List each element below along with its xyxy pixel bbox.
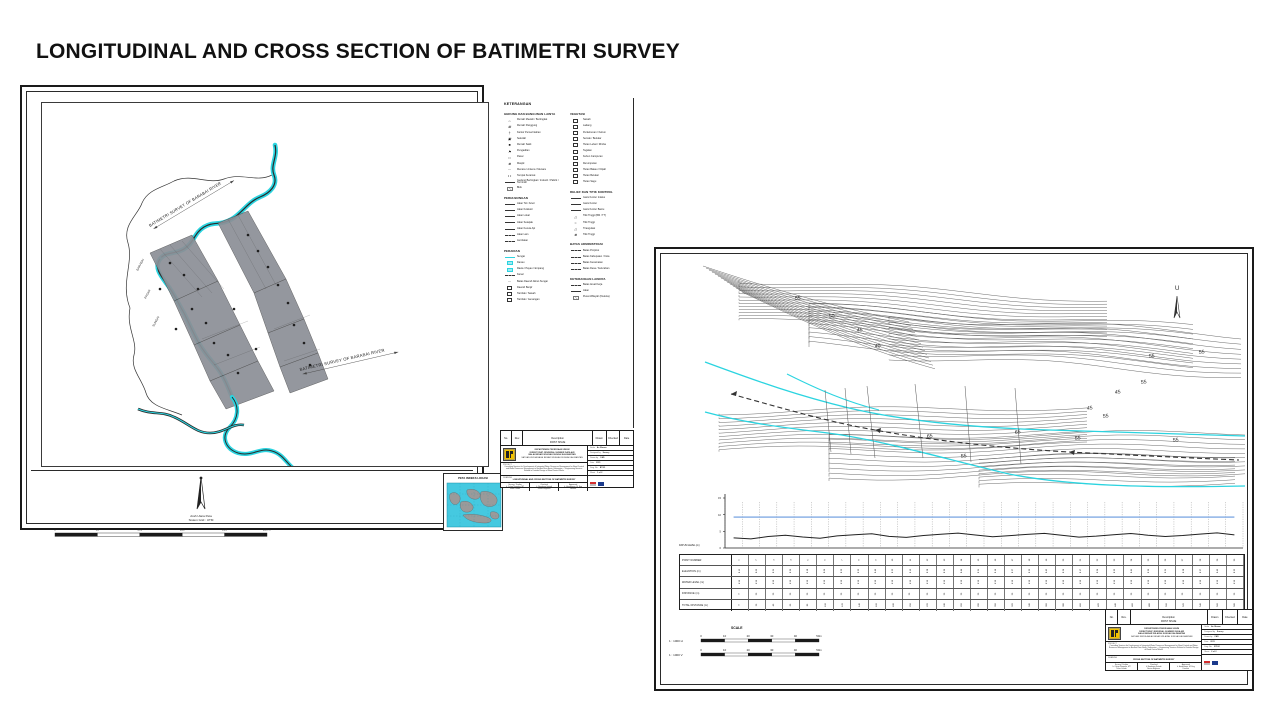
legend-item-label: Semak / Belukar	[583, 138, 601, 141]
legend-dashed-line-icon	[570, 261, 581, 266]
legend-symbol-icon: △	[570, 214, 581, 219]
table-cell: 8.18	[800, 566, 817, 576]
legend-item-label: Perkebunan / Kebun	[583, 132, 606, 135]
legend-symbol-icon: ■	[504, 143, 515, 148]
table-cell: 160	[869, 600, 886, 611]
table-cell: 20	[851, 589, 868, 599]
inset-locator-map[interactable]: PETA INDEKS LOKASI	[443, 473, 503, 531]
indonesia-inset-svg	[445, 482, 503, 530]
table-cell: 24	[1124, 555, 1141, 565]
contour-line	[703, 266, 909, 322]
field-value: As Shown	[597, 447, 607, 449]
table-cell: 9.50	[851, 577, 868, 587]
legend-item-label: Jembatan	[517, 240, 528, 243]
legend-item-label: Sawah	[583, 119, 591, 122]
table-cell: 20	[886, 589, 903, 599]
legend-item-label: Daerah Banjir	[517, 287, 532, 290]
table-cell: 8.35	[1022, 566, 1039, 576]
legend-column-left: GEDUNG DAN BANGUNAN LAINYA⌂Rumah Mewah /…	[504, 112, 566, 304]
table-cell: 20	[783, 589, 800, 599]
signature-name: Ir. Cahyo Nugroho, MT Team Leader	[1108, 666, 1136, 670]
table-cell: 20	[988, 589, 1005, 599]
legend-box-icon	[570, 143, 581, 148]
contour-label: 45	[1086, 405, 1093, 412]
table-row-label: DISTANCE (m)	[680, 589, 732, 599]
table-row: WATER LEVEL (m)9.509.509.509.509.509.509…	[680, 577, 1244, 588]
slide-canvas: LONGITUDINAL AND CROSS SECTION OF BATIME…	[0, 0, 1280, 720]
signature-name: Ir. Hendrawan, M. Eng Direktur	[1172, 666, 1200, 670]
scale-tick-label: 150	[180, 528, 185, 532]
legend-item-label: Titik Tinggi	[583, 222, 595, 225]
table-cell: 20	[749, 600, 766, 611]
scale-bars-svg: 1 : 1000 H01020304050m1 : 1000 V01020304…	[669, 632, 829, 668]
left-sheet-inner-border: BATIMETRI SURVEY OF BARABAI RIVER BATIME…	[26, 91, 478, 524]
table-cell: 2	[749, 555, 766, 565]
table-cell: 8.09	[817, 566, 834, 576]
table-cell: 20	[1005, 589, 1022, 599]
legend-symbol-icon: ▣	[504, 137, 515, 142]
table-cell: 20	[834, 589, 851, 599]
legend-item-label: Kebun Campuran	[583, 156, 603, 159]
legend-item-label: Garis Kontur Bantu	[583, 209, 604, 212]
table-cell: 8.45	[1210, 566, 1227, 576]
table-row-cells: 8.128.058.218.308.188.098.258.338.408.22…	[732, 566, 1244, 576]
signature-name: Ir. Cahyo Nugroho, MT Team Leader	[503, 486, 528, 490]
north-arrow-caption: Arah Utara Peta Sistem Grid : UTM	[151, 515, 251, 523]
indonesia-flag-icon	[1204, 661, 1210, 665]
legend-box-icon	[570, 124, 581, 129]
table-cell: 20	[971, 589, 988, 599]
legend-item-label: Batas Kecamatan	[583, 262, 603, 265]
field-label: Scale	[1204, 626, 1209, 628]
table-cell: 6	[817, 555, 834, 565]
contour-line	[829, 471, 1245, 481]
project-name: Consulting Services for Development of I…	[503, 466, 585, 472]
table-cell: 9.50	[1176, 577, 1193, 587]
field-label: Designed by	[590, 452, 601, 454]
legend-dashed-line-icon	[504, 273, 515, 278]
legend-item-label: Hutan Belukar	[583, 175, 599, 178]
right-drawing-sheet[interactable]: 555045406555554555455555556555 U 151050	[654, 247, 1254, 691]
table-cell: 9.50	[1039, 577, 1056, 587]
table-cell: 8.36	[937, 566, 954, 576]
revision-value-cell	[1223, 620, 1238, 624]
legend-dash-dot-icon	[570, 283, 581, 288]
table-cell: 8.42	[1039, 566, 1056, 576]
table-cell: 20	[1124, 589, 1141, 599]
table-cell: 9.50	[1005, 577, 1022, 587]
table-cell: 300	[988, 600, 1005, 611]
field-value: Survey	[603, 452, 610, 454]
legend-item-label: Gedung Bertingkat / Industri / Pabrik / …	[517, 180, 566, 185]
north-arrow-caption-line2: Sistem Grid : UTM	[151, 519, 251, 523]
legend-item-label: Jalan Lokal	[517, 215, 530, 218]
contour-label: 55	[1148, 353, 1155, 360]
legend-box-icon	[570, 161, 581, 166]
field-label: Drawn by	[1204, 636, 1212, 638]
legend-generic-icon	[570, 289, 581, 294]
legend-box-icon	[570, 180, 581, 185]
org-line4-right: SATUAN KERJA BALAI BESAR WILAYAH SUNGAI …	[1124, 636, 1199, 639]
table-cell: 9.50	[766, 577, 783, 587]
legend-box-icon	[570, 168, 581, 173]
table-cell: 8.28	[920, 566, 937, 576]
table-cell: 400	[1073, 600, 1090, 611]
table-cell: 120	[834, 600, 851, 611]
table-cell: 9.50	[800, 577, 817, 587]
signature-cell: Survey / DrafterIr. Cahyo Nugroho, MT Te…	[1106, 663, 1138, 671]
table-cell: 22	[1090, 555, 1107, 565]
table-cell: 20	[954, 589, 971, 599]
right-scale-block: SCALE 1 : 1000 H01020304050m1 : 1000 V01…	[669, 626, 829, 668]
table-cell: 12	[920, 555, 937, 565]
table-cell: 4	[783, 555, 800, 565]
table-cell: 1	[732, 555, 749, 565]
north-arrow-icon	[181, 475, 221, 517]
table-cell: 0	[732, 589, 749, 599]
legend-item-label: Triangulasi	[583, 228, 595, 231]
table-cell: 9.50	[920, 577, 937, 587]
table-cell: 20	[869, 589, 886, 599]
right-title-block-main: DEPARTEMEN PEKERJAAN UMUM DIREKTORAT JEN…	[1106, 625, 1252, 671]
table-cell: 180	[886, 600, 903, 611]
signature-cell: ApprovedIr. Hendrawan, M. Eng Direktur	[1170, 663, 1201, 671]
table-cell: 26	[1159, 555, 1176, 565]
legend-item-label: Batas Daerah Aliran Sungai	[517, 281, 548, 284]
legend-section-heading: PERAIRAN	[504, 249, 566, 253]
field-value: 2 of 2	[1211, 651, 1216, 653]
table-cell: 8.44	[954, 566, 971, 576]
table-cell: 11	[903, 555, 920, 565]
table-cell: 20	[1227, 589, 1244, 599]
table-cell: 9.50	[988, 577, 1005, 587]
left-map-frame[interactable]: BATIMETRI SURVEY OF BARABAI RIVER BATIME…	[41, 102, 489, 467]
legend-item-label: Batas Propinsi	[583, 250, 599, 253]
legend-item-label: Jalan Kereta Api	[517, 228, 535, 231]
legend-item-label: Masjid	[517, 163, 524, 166]
table-row-cells: 9.509.509.509.509.509.509.509.509.509.50…	[732, 577, 1244, 587]
left-drawing-sheet[interactable]: BATIMETRI SURVEY OF BARABAI RIVER BATIME…	[20, 85, 484, 530]
agency-flags	[588, 476, 633, 491]
scale-row-label: 1 : 1000 V	[669, 653, 683, 657]
drawing-title: LONGITUDINAL AND CROSS SECTION OF BATIME…	[503, 479, 585, 481]
legend-item-label: Batas Kabupaten / Kota	[583, 256, 609, 259]
legend-box-icon	[570, 137, 581, 142]
legend-section-heading: GEDUNG DAN BANGUNAN LAINYA	[504, 112, 566, 116]
contour-label: 55	[794, 295, 801, 302]
legend-contour-icon	[570, 208, 581, 213]
legend-column-right: VEGETASISawahLadangPerkebunan / KebunSem…	[570, 112, 632, 301]
datum-level-label: DATUM LEVEL (m)	[679, 544, 700, 547]
legend-item-label: Jalan	[583, 290, 589, 293]
partner-flag-icon	[598, 482, 604, 486]
table-row: POINT NUMBER1234567891011121314151617181…	[680, 555, 1244, 566]
scale-tick-label: 0	[54, 528, 56, 532]
table-cell: 13	[937, 555, 954, 565]
table-cell: 9.50	[1193, 577, 1210, 587]
field-value: CAD	[1214, 636, 1218, 638]
scale-tick-label: 200	[222, 528, 227, 532]
table-cell: 240	[937, 600, 954, 611]
table-cell: 9.50	[1022, 577, 1039, 587]
profile-y-tick-label: 15	[718, 496, 721, 500]
legend-symbol-icon: ⊕	[570, 233, 581, 238]
signature-cell: CheckedIr. Bambang Setiadi Senior Engine…	[1138, 663, 1170, 671]
left-title-block[interactable]: No.Rev.DescriptionDrawnCheckedDate FIRST…	[500, 430, 634, 488]
contour-map-frame[interactable]: 555045406555554555455555556555 U	[679, 262, 1245, 490]
legend-item-label: Pusat Wilayah (Ibukota)	[583, 296, 610, 299]
table-cell: 8.41	[1124, 566, 1141, 576]
profile-data-table: POINT NUMBER1234567891011121314151617181…	[679, 554, 1245, 610]
drawing-title-right: CROSS SECTION OF BATIMETRI SURVEY	[1108, 659, 1199, 661]
scale-tick-label: 20	[747, 648, 751, 652]
revision-value-cell	[620, 441, 633, 445]
table-cell: 8.33	[1107, 566, 1124, 576]
contour-line	[719, 442, 1087, 452]
table-cell: 0	[732, 600, 749, 611]
table-cell: 8.21	[766, 566, 783, 576]
table-cell: 20	[1210, 589, 1227, 599]
table-cell: 9.50	[817, 577, 834, 587]
scale-tick-label: 50m	[816, 634, 822, 638]
revision-value-cell	[1118, 620, 1130, 624]
place-label-2: PASAR	[143, 288, 152, 299]
left-revision-table: No.Rev.DescriptionDrawnCheckedDate FIRST…	[501, 431, 633, 446]
place-label-3: SUNGAI	[151, 315, 160, 327]
profile-chart: 151050	[679, 492, 1245, 554]
scale-tick-label: 30	[770, 648, 774, 652]
table-cell: 20	[1193, 589, 1210, 599]
right-tb-right-column: ScaleAs ShownDesigned bySurveyDrawn byCA…	[1202, 625, 1252, 671]
field-value: 1 of 2	[597, 472, 602, 474]
table-cell: 8.12	[732, 566, 749, 576]
contour-map-drawing: 555045406555554555455555556555 U	[679, 262, 1245, 490]
legend-item-label: Rawa / Payau / Empang	[517, 268, 544, 271]
legend-item-label: Tegalan	[583, 150, 592, 153]
table-cell: 9.50	[749, 577, 766, 587]
table-cell: 9.50	[1210, 577, 1227, 587]
revision-value-cell: FIRST ISSUE	[523, 441, 593, 445]
table-cell: 9.50	[886, 577, 903, 587]
scale-tick-label: 40	[794, 634, 798, 638]
contour-label: 50	[828, 313, 835, 320]
table-cell: 9.50	[971, 577, 988, 587]
legend-contour-icon	[570, 202, 581, 207]
indonesia-flag-icon	[590, 482, 596, 486]
page-title: LONGITUDINAL AND CROSS SECTION OF BATIME…	[36, 40, 680, 64]
contour-label: 45	[856, 327, 863, 334]
legend-item-label: Batas Desa / Kelurahan	[583, 268, 609, 271]
field-value: 2011	[1210, 641, 1214, 643]
table-cell: 5	[800, 555, 817, 565]
organization-band-right: DEPARTEMEN PEKERJAAN UMUM DIREKTORAT JEN…	[1106, 625, 1201, 642]
table-row: DISTANCE (m)0202020202020202020202020202…	[680, 589, 1244, 600]
revision-value-cell	[593, 441, 607, 445]
table-cell: 9.50	[869, 577, 886, 587]
right-title-block[interactable]: No.Rev.DescriptionDrawnCheckedDate FIRST…	[1105, 609, 1253, 671]
table-cell: 20	[1107, 589, 1124, 599]
legend-box-icon	[504, 298, 515, 303]
table-cell: 8.17	[1073, 566, 1090, 576]
table-row-cells: 0202020202020202020202020202020202020202…	[732, 589, 1244, 599]
legend-item-label: Sungai	[517, 256, 525, 259]
table-cell: 9.50	[1227, 577, 1244, 587]
legend-contour-icon	[570, 196, 581, 201]
table-cell: 280	[971, 600, 988, 611]
table-cell: 8.31	[971, 566, 988, 576]
legend-dashed-line-icon	[570, 267, 581, 272]
scale-tick-label: 10	[723, 648, 727, 652]
signature-cell: Survey / DrafterIr. Cahyo Nugroho, MT Te…	[501, 483, 530, 491]
profile-y-tick-label: 5	[720, 530, 722, 534]
scale-tick-label: 40	[794, 648, 798, 652]
project-name-right: Consulting Services for Development of I…	[1108, 645, 1199, 651]
drawing-band-right: DRAWING CROSS SECTION OF BATIMETRI SURVE…	[1106, 656, 1201, 663]
field-value: BT-02	[1214, 646, 1219, 648]
signature-cell: CheckedIr. Bambang Setiadi Senior Engine…	[530, 483, 559, 491]
table-cell: 15	[971, 555, 988, 565]
legend-item-label: Rumah Mewah / Bertingkat	[517, 119, 547, 122]
legend-item-label: Menara / Antena / Menara	[517, 169, 546, 172]
left-sheet-bottom-strip: Arah Utara Peta Sistem Grid : UTM 050100…	[31, 470, 473, 519]
table-cell: 20	[749, 589, 766, 599]
legend-hatch-icon	[570, 295, 581, 300]
table-cell: 8.37	[1193, 566, 1210, 576]
legend-item-label: Tambak / Genangan	[517, 299, 540, 302]
table-cell: 9.50	[1073, 577, 1090, 587]
organization-text: DEPARTEMEN PEKERJAAN UMUM DIREKTORAT JEN…	[519, 449, 585, 459]
table-cell: 20	[1176, 589, 1193, 599]
legend-box-icon	[570, 149, 581, 154]
field-label: Sheet	[590, 472, 595, 474]
field-label: Date	[590, 462, 594, 464]
legend-generic-icon	[504, 180, 515, 185]
revision-value-cell	[512, 441, 523, 445]
legend-box-icon	[570, 130, 581, 135]
drawing-band: DRAWING LONGITUDINAL AND CROSS SECTION O…	[501, 476, 587, 483]
table-cell: 20	[1039, 589, 1056, 599]
signature-row: Survey / DrafterIr. Cahyo Nugroho, MT Te…	[501, 483, 587, 491]
field-label: Scale	[590, 447, 595, 449]
legend-item-label: Ladang	[583, 125, 591, 128]
legend-dash-dot-icon	[570, 248, 581, 253]
table-cell: 9.50	[1090, 577, 1107, 587]
table-cell: 9.50	[903, 577, 920, 587]
table-cell: 9	[869, 555, 886, 565]
field-label: Dwg. No.	[1204, 646, 1212, 648]
legend-item-label: Tambak / Sawah	[517, 293, 535, 296]
scale-title: SCALE	[731, 626, 743, 630]
table-cell: 30	[1227, 555, 1244, 565]
table-cell: 9.50	[732, 577, 749, 587]
table-row-label: ELEVATION (m)	[680, 566, 732, 576]
legend-river-icon	[504, 255, 515, 260]
legend-item-label: Pasar	[517, 156, 524, 159]
legend-item-label: Kanal	[517, 274, 523, 277]
legend-box-icon	[504, 286, 515, 291]
revision-value-cell	[501, 441, 512, 445]
legend-water-fill-icon	[504, 267, 515, 272]
legend-symbol-icon: ○	[570, 220, 581, 225]
legend-item-label: Rumah Sakit	[517, 144, 531, 147]
table-cell: 20	[920, 589, 937, 599]
revision-value-cell	[1106, 620, 1118, 624]
scale-tick-label: 100	[137, 528, 142, 532]
contour-label: 55	[960, 453, 967, 460]
table-cell: 20	[937, 589, 954, 599]
scale-row-label: 1 : 1000 H	[669, 639, 683, 643]
ministry-logo-icon-right	[1108, 627, 1121, 640]
table-cell: 20	[1073, 589, 1090, 599]
contour-label: 40	[874, 343, 881, 350]
field-label: Designed by	[1204, 631, 1215, 633]
legend-item: Blok	[504, 186, 566, 192]
legend-box-icon	[570, 155, 581, 160]
table-cell: 20	[800, 589, 817, 599]
legend-dots-icon: ···	[504, 279, 515, 284]
legend-item-label: Batas Areal Kerja	[583, 284, 602, 287]
table-cell: 9.50	[834, 577, 851, 587]
legend-title: KETERANGAN	[504, 102, 531, 106]
table-cell: 40	[766, 600, 783, 611]
right-tb-left-column: DEPARTEMEN PEKERJAAN UMUM DIREKTORAT JEN…	[1106, 625, 1202, 671]
table-cell: 80	[800, 600, 817, 611]
legend-line-icon	[504, 227, 515, 232]
contour-label: 65	[926, 433, 933, 440]
legend-item-label: Jalan Kolektor	[517, 209, 533, 212]
table-row-cells: 1234567891011121314151617181920212223242…	[732, 555, 1244, 565]
table-cell: 20	[903, 589, 920, 599]
table-cell: 27	[1176, 555, 1193, 565]
inset-caption: PETA INDEKS LOKASI	[444, 476, 502, 480]
table-row-label: POINT NUMBER	[680, 555, 732, 565]
table-cell: 260	[954, 600, 971, 611]
signature-name: Ir. Hendrawan, M. Eng Direktur	[561, 486, 586, 490]
place-label-1: BARABAI	[135, 258, 145, 272]
legend-panel: KETERANGAN GEDUNG DAN BANGUNAN LAINYA⌂Ru…	[500, 98, 634, 428]
legend-item: Pusat Wilayah (Ibukota)	[570, 295, 632, 301]
legend-item-label: Titik Tinggi (BM / TT)	[583, 215, 606, 218]
table-cell: 20	[1159, 589, 1176, 599]
legend-symbol-icon: ⌂	[504, 118, 515, 123]
table-cell: 9.50	[1124, 577, 1141, 587]
field-value: CAD	[600, 457, 604, 459]
legend-symbol-icon: □	[504, 155, 515, 160]
table-cell: 200	[903, 600, 920, 611]
project-band: PROJECT Consulting Services for Developm…	[501, 463, 587, 476]
table-cell: 9.50	[937, 577, 954, 587]
legend-item: Tambak / Genangan	[504, 297, 566, 303]
table-cell: 7	[834, 555, 851, 565]
legend-item-label: Tempat Keramat	[517, 175, 535, 178]
table-cell: 9.50	[1107, 577, 1124, 587]
contour-label: 45	[1114, 389, 1121, 396]
legend-hatch-icon	[504, 186, 515, 191]
right-sheet-inner-border: 555045406555554555455555556555 U 151050	[660, 253, 1248, 685]
legend-item-label: Hutan Sagu	[583, 181, 596, 184]
signature-name: Ir. Bambang Setiadi Senior Engineer	[532, 486, 557, 490]
table-cell: 9.50	[783, 577, 800, 587]
signature-name: Ir. Bambang Setiadi Senior Engineer	[1140, 666, 1168, 670]
table-cell: 21	[1073, 555, 1090, 565]
contour-label: 65	[1014, 429, 1021, 436]
field-label: Date	[1204, 641, 1208, 643]
contour-label: 55	[1140, 379, 1147, 386]
left-tb-left-column: DEPARTEMEN PEKERJAAN UMUM DIREKTORAT JEN…	[501, 446, 588, 491]
table-cell: 8.28	[1176, 566, 1193, 576]
contour-line	[809, 341, 1193, 368]
legend-section-heading: BATAS ADMINISTRASI	[570, 242, 632, 246]
